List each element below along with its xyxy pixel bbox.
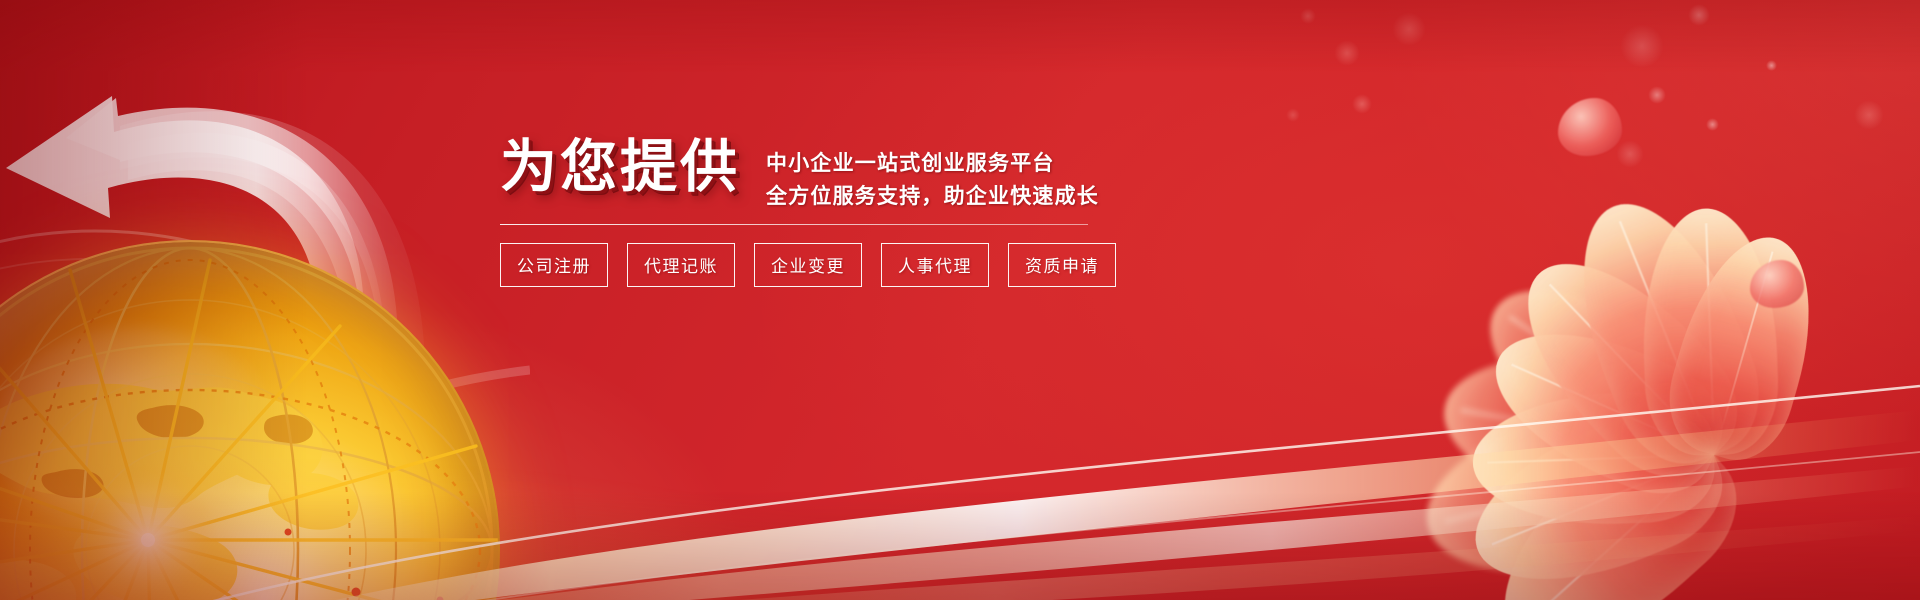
subtitle-line-2: 全方位服务支持，助企业快速成长	[766, 180, 1099, 213]
page-title: 为您提供	[500, 139, 740, 196]
service-button-row: 公司注册 代理记账 企业变更 人事代理 资质申请	[500, 243, 1100, 287]
divider	[500, 224, 1088, 225]
subtitle-line-1: 中小企业一站式创业服务平台	[766, 147, 1099, 180]
service-button-enterprise-change[interactable]: 企业变更	[754, 243, 862, 287]
service-button-qualification-application[interactable]: 资质申请	[1008, 243, 1116, 287]
service-button-agency-bookkeeping[interactable]: 代理记账	[627, 243, 735, 287]
promo-banner: 为您提供 中小企业一站式创业服务平台 全方位服务支持，助企业快速成长 公司注册 …	[0, 0, 1920, 600]
service-button-company-registration[interactable]: 公司注册	[500, 243, 608, 287]
headline-row: 为您提供 中小企业一站式创业服务平台 全方位服务支持，助企业快速成长	[500, 139, 1100, 213]
banner-content: 为您提供 中小企业一站式创业服务平台 全方位服务支持，助企业快速成长 公司注册 …	[500, 139, 1100, 287]
service-button-hr-agency[interactable]: 人事代理	[881, 243, 989, 287]
banner-edge-shading	[0, 0, 1920, 600]
subtitle-block: 中小企业一站式创业服务平台 全方位服务支持，助企业快速成长	[766, 139, 1099, 213]
